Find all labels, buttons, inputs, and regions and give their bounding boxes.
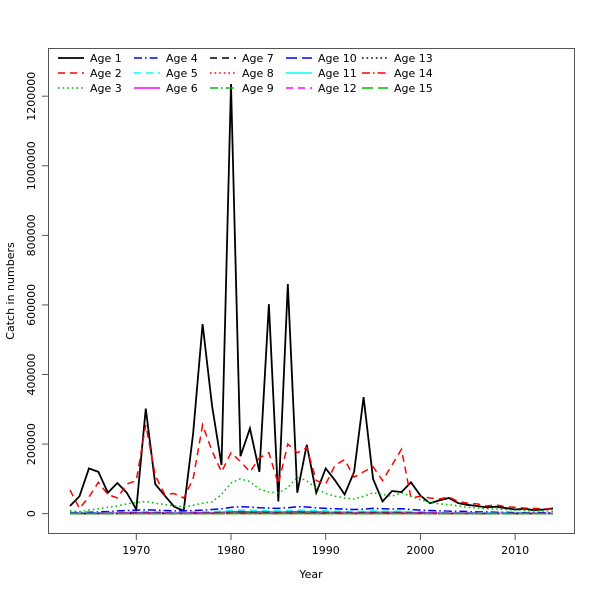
- legend-label-age-10: Age 10: [318, 52, 357, 65]
- x-tick-label: 2010: [501, 544, 529, 557]
- line-chart: 020000040000060000080000010000001200000 …: [0, 0, 600, 600]
- legend-label-age-13: Age 13: [394, 52, 433, 65]
- legend-label-age-8: Age 8: [242, 67, 274, 80]
- legend-label-age-14: Age 14: [394, 67, 433, 80]
- legend-label-age-12: Age 12: [318, 82, 357, 95]
- y-tick-label: 1000000: [25, 141, 38, 190]
- y-tick-label: 600000: [25, 284, 38, 326]
- y-tick-label: 200000: [25, 423, 38, 465]
- legend-label-age-4: Age 4: [166, 52, 198, 65]
- legend-label-age-7: Age 7: [242, 52, 274, 65]
- y-tick-label: 400000: [25, 353, 38, 395]
- legend-label-age-3: Age 3: [90, 82, 122, 95]
- x-tick-label: 1970: [122, 544, 150, 557]
- legend-label-age-5: Age 5: [166, 67, 198, 80]
- x-tick-label: 2000: [406, 544, 434, 557]
- y-axis-title: Catch in numbers: [4, 242, 17, 340]
- legend-label-age-11: Age 11: [318, 67, 357, 80]
- x-axis-title: Year: [298, 568, 323, 581]
- legend-label-age-1: Age 1: [90, 52, 122, 65]
- legend-label-age-6: Age 6: [166, 82, 198, 95]
- x-tick-label: 1990: [312, 544, 340, 557]
- x-tick-label: 1980: [217, 544, 245, 557]
- legend-label-age-15: Age 15: [394, 82, 433, 95]
- legend-label-age-9: Age 9: [242, 82, 274, 95]
- y-tick-label: 0: [25, 510, 38, 517]
- y-tick-label: 800000: [25, 214, 38, 256]
- chart-container: 020000040000060000080000010000001200000 …: [0, 0, 600, 600]
- y-tick-label: 1200000: [25, 72, 38, 121]
- legend-label-age-2: Age 2: [90, 67, 122, 80]
